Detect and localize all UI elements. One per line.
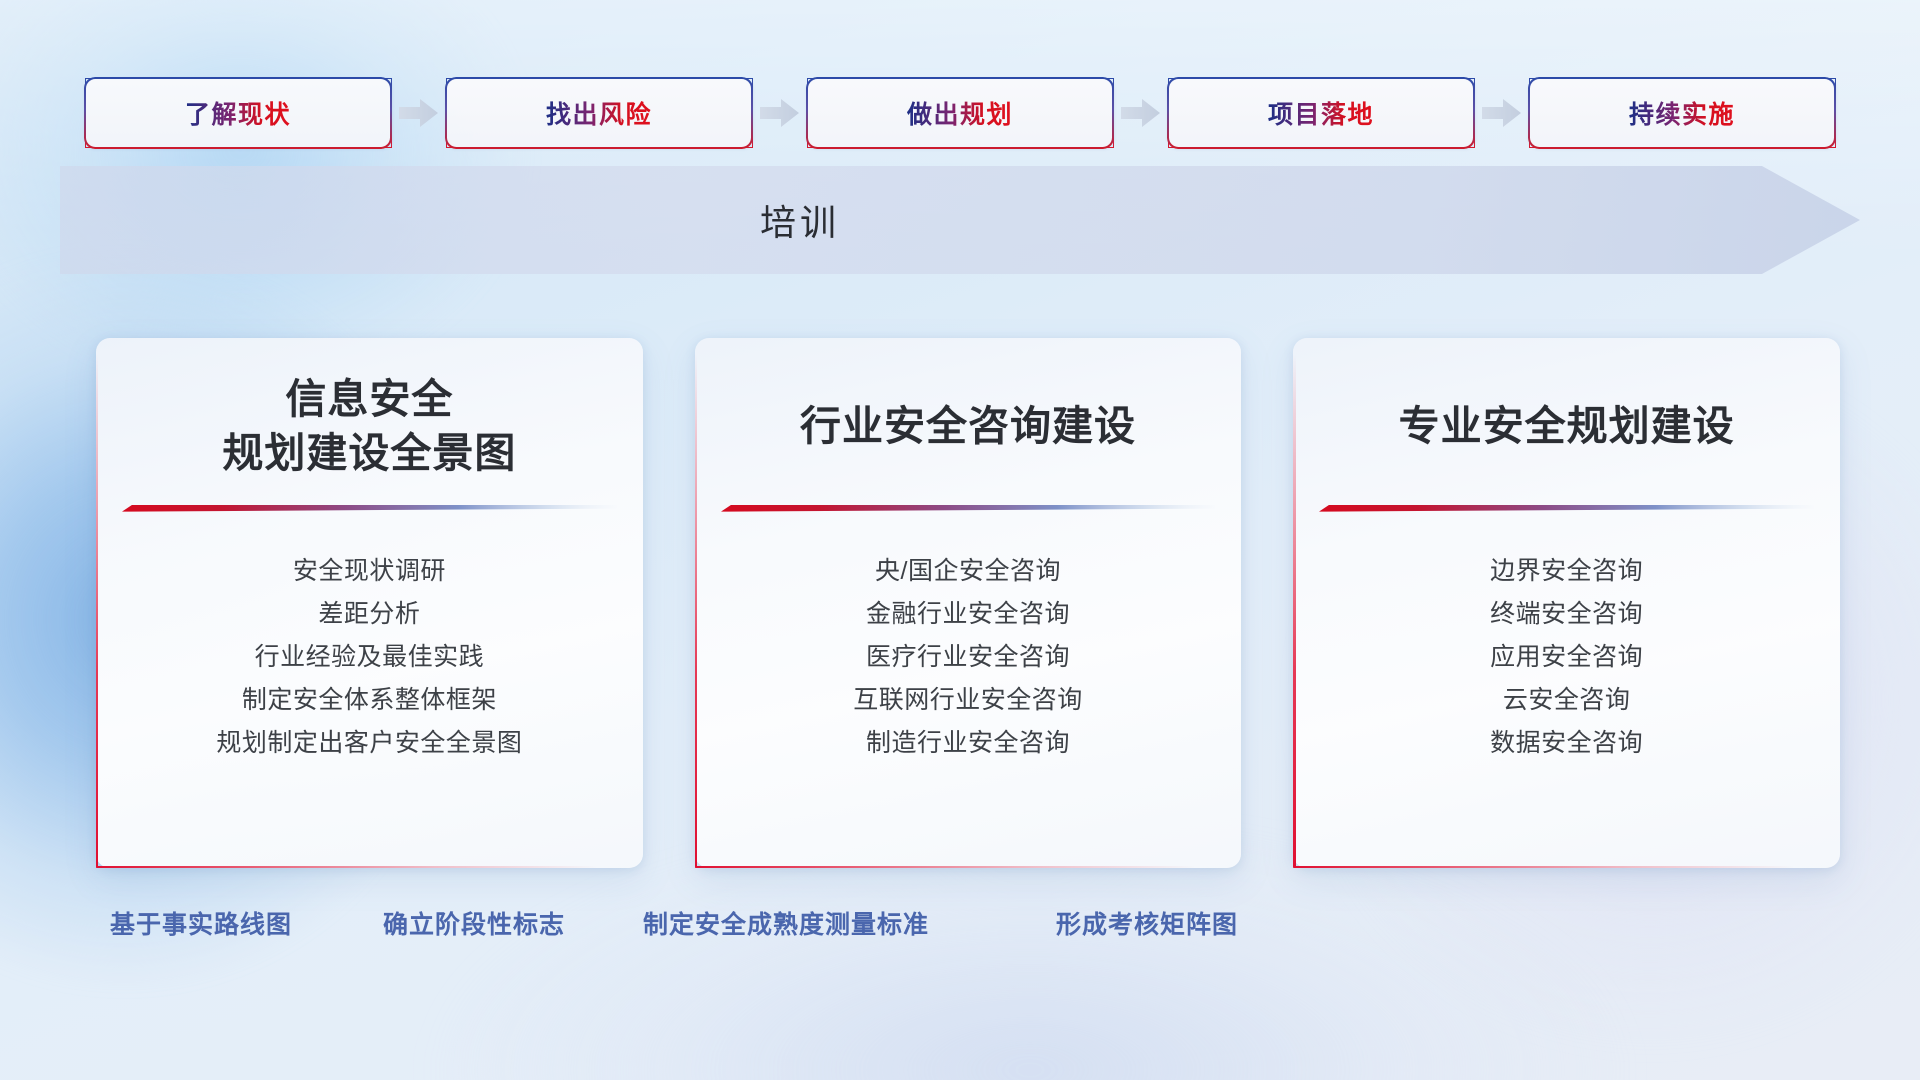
- card-1-list: 安全现状调研 差距分析 行业经验及最佳实践 制定安全体系整体框架 规划制定出客户…: [122, 550, 617, 765]
- step-label-4: 项目落地: [1268, 95, 1374, 131]
- list-item: 云安全咨询: [1319, 679, 1814, 722]
- list-item: 央/国企安全咨询: [721, 550, 1216, 593]
- process-step-chain: 了解现状 找出风险 做出规划 项目落地 持: [0, 78, 1920, 148]
- card-2[interactable]: 行业安全咨询建设 央/国企安全咨询 金融行业安全咨询 医疗行业安全咨询 互联网行…: [695, 338, 1242, 868]
- card-3-divider: [1319, 504, 1814, 512]
- card-1-divider: [122, 504, 617, 512]
- cards-row: 信息安全 规划建设全景图 安全现状调研 差距分析 行: [96, 338, 1840, 868]
- step-box-2[interactable]: 找出风险: [446, 78, 753, 148]
- step-arrow-icon-2: [753, 78, 807, 148]
- card-2-divider: [721, 504, 1216, 512]
- list-item: 应用安全咨询: [1319, 636, 1814, 679]
- footer-label-2: 确立阶段性标志: [383, 905, 565, 941]
- list-item: 行业经验及最佳实践: [122, 636, 617, 679]
- gradient-underline-icon: [1319, 504, 1814, 512]
- card-3-title: 专业安全规划建设: [1399, 372, 1735, 480]
- list-item: 规划制定出客户安全全景图: [122, 722, 617, 765]
- training-banner: 培训: [60, 166, 1860, 274]
- footer-labels-row: 基于事实路线图 确立阶段性标志 制定安全成熟度测量标准 形成考核矩阵图: [0, 905, 1920, 951]
- step-label-2: 找出风险: [546, 95, 652, 131]
- list-item: 制造行业安全咨询: [721, 722, 1216, 765]
- gradient-underline-icon: [122, 504, 617, 512]
- card-3[interactable]: 专业安全规划建设 边界安全咨询 终端安全咨询 应用安全咨询 云安全咨询 数据安全…: [1293, 338, 1840, 868]
- step-label-5: 持续实施: [1629, 95, 1735, 131]
- footer-label-1: 基于事实路线图: [110, 905, 292, 941]
- list-item: 安全现状调研: [122, 550, 617, 593]
- step-arrow-icon-1: [392, 78, 446, 148]
- list-item: 互联网行业安全咨询: [721, 679, 1216, 722]
- list-item: 制定安全体系整体框架: [122, 679, 617, 722]
- list-item: 差距分析: [122, 593, 617, 636]
- list-item: 边界安全咨询: [1319, 550, 1814, 593]
- card-2-list: 央/国企安全咨询 金融行业安全咨询 医疗行业安全咨询 互联网行业安全咨询 制造行…: [721, 550, 1216, 765]
- card-2-title: 行业安全咨询建设: [800, 372, 1136, 480]
- step-label-3: 做出规划: [907, 95, 1013, 131]
- card-3-list: 边界安全咨询 终端安全咨询 应用安全咨询 云安全咨询 数据安全咨询: [1319, 550, 1814, 765]
- step-box-1[interactable]: 了解现状: [85, 78, 392, 148]
- step-box-3[interactable]: 做出规划: [807, 78, 1114, 148]
- card-1[interactable]: 信息安全 规划建设全景图 安全现状调研 差距分析 行: [96, 338, 643, 868]
- list-item: 医疗行业安全咨询: [721, 636, 1216, 679]
- gradient-underline-icon: [721, 504, 1216, 512]
- step-arrow-icon-4: [1475, 78, 1529, 148]
- footer-label-3: 制定安全成熟度测量标准: [643, 905, 929, 941]
- step-label-1: 了解现状: [185, 95, 291, 131]
- step-box-5[interactable]: 持续实施: [1529, 78, 1836, 148]
- step-box-4[interactable]: 项目落地: [1168, 78, 1475, 148]
- banner-label: 培训: [60, 166, 1540, 274]
- list-item: 金融行业安全咨询: [721, 593, 1216, 636]
- card-1-title: 信息安全 规划建设全景图: [222, 372, 516, 480]
- list-item: 终端安全咨询: [1319, 593, 1814, 636]
- footer-label-4: 形成考核矩阵图: [1056, 905, 1238, 941]
- list-item: 数据安全咨询: [1319, 722, 1814, 765]
- step-arrow-icon-3: [1114, 78, 1168, 148]
